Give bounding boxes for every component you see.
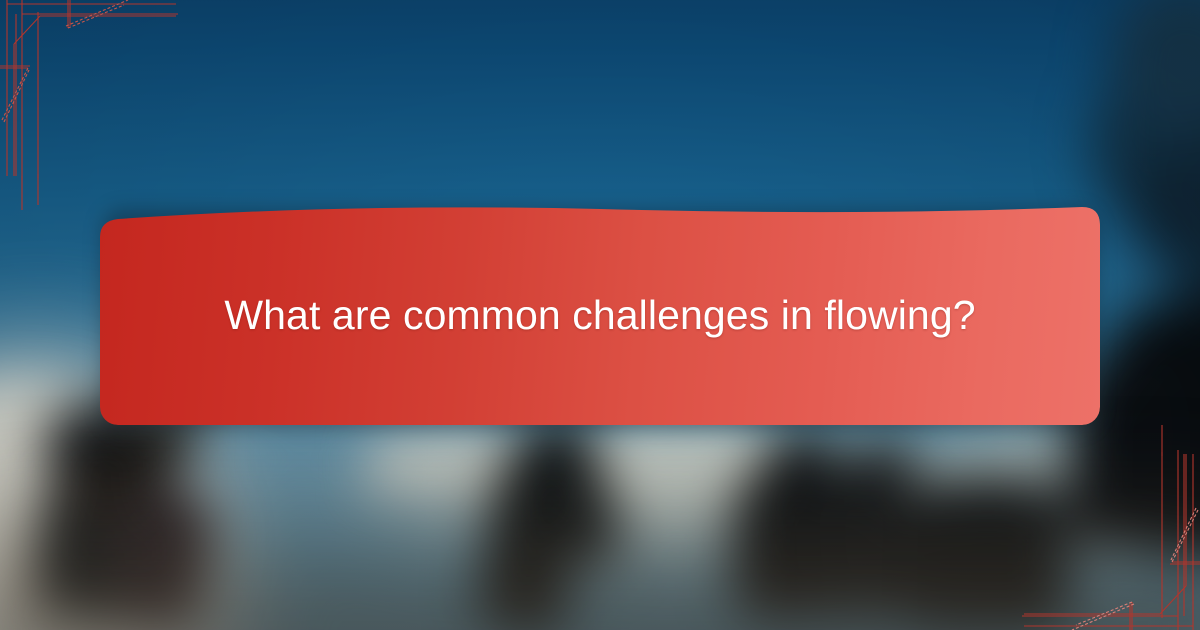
- share-card-canvas: What are common challenges in flowing?: [0, 0, 1200, 630]
- title-card: What are common challenges in flowing?: [100, 205, 1100, 425]
- card-title-text: What are common challenges in flowing?: [100, 205, 1100, 425]
